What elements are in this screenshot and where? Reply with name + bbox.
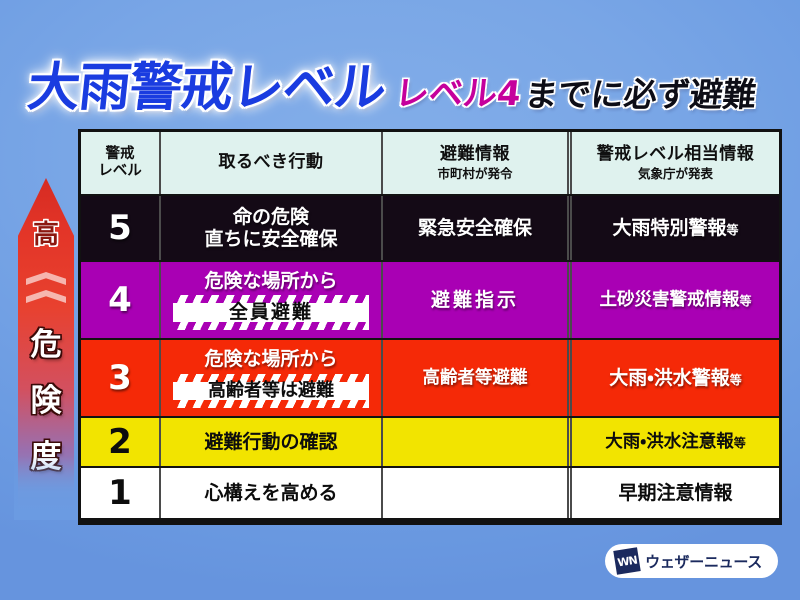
action-line-2: 直ちに安全確保 [204,228,337,250]
cell-action: 心構えを高める [159,468,381,518]
level-number: 5 [108,211,132,245]
action-line-1: 命の危険 [233,206,309,228]
header-level-line2: レベル [98,163,142,180]
action-highlight-box: 全員避難 [173,295,369,330]
equivalent-info-wrap: 大雨・洪水警報等 [609,367,741,389]
evacuation-info: 避難指示 [431,289,519,311]
cell-level-number: 2 [81,418,159,466]
level-number: 3 [108,361,132,395]
title-tail: までに必ず避難 [523,78,757,111]
cell-level-number: 4 [81,262,159,338]
action-highlight-text: 全員避難 [185,303,357,322]
header-cell-evacuation-info: 避難情報 市町村が発令 [381,132,567,194]
danger-scale-arrow: 高 危 険 度 [18,178,74,518]
equivalent-info: 土砂災害警戒情報 [599,290,739,310]
action-line-1: 危険な場所から [204,348,337,370]
cell-action: 命の危険 直ちに安全確保 [159,196,381,260]
danger-label-char-2: 険 [18,386,74,417]
evacuation-info: 緊急安全確保 [418,217,532,239]
equivalent-info-suffix: 等 [727,223,739,237]
brand-name: ウェザーニュース [645,551,762,572]
header-equiv-label: 警戒レベル相当情報 [597,145,755,164]
action-line-1: 避難行動の確認 [204,431,337,453]
warning-level-table: 警戒 レベル 取るべき行動 避難情報 市町村が発令 警戒レベル相当情報 気象庁が… [78,129,782,525]
cell-equivalent-info: 大雨特別警報等 [567,196,779,260]
cell-evacuation-info: 高齢者等避難 [381,340,567,416]
hazard-stripe-bottom [173,400,369,408]
cell-action: 危険な場所から 全員避難 [159,262,381,338]
danger-scale-top-label: 高 [18,222,74,248]
equivalent-info-suffix: 等 [734,436,746,450]
header-evac-label: 避難情報 [440,145,510,164]
header-level-line1: 警戒 [106,146,135,163]
page-title: 大雨警戒レベル [25,62,387,114]
cell-action: 避難行動の確認 [159,418,381,466]
action-highlight-box: 高齢者等は避難 [173,374,369,408]
cell-equivalent-info: 土砂災害警戒情報等 [567,262,779,338]
cell-evacuation-info: 避難指示 [381,262,567,338]
equivalent-info-wrap: 大雨特別警報等 [612,217,738,239]
header-cell-level: 警戒 レベル [81,132,159,194]
equivalent-info-wrap: 早期注意情報 [618,482,732,504]
level-number: 2 [108,425,132,459]
cell-level-number: 1 [81,468,159,518]
cell-equivalent-info: 大雨・洪水注意報等 [567,418,779,466]
table-header-row: 警戒 レベル 取るべき行動 避難情報 市町村が発令 警戒レベル相当情報 気象庁が… [81,132,779,194]
cell-level-number: 5 [81,196,159,260]
header-action-label: 取るべき行動 [219,153,324,172]
cell-evacuation-info: 緊急安全確保 [381,196,567,260]
hazard-stripe-bottom [173,322,369,330]
table-row: 4 危険な場所から 全員避難 避難指示 土砂災害警戒情報等 [81,260,779,338]
table-row: 2 避難行動の確認 大雨・洪水注意報等 [81,416,779,466]
table-row: 1 心構えを高める 早期注意情報 [81,466,779,518]
infographic-canvas: 大雨警戒レベル レベル4 までに必ず避難 高 危 険 度 警戒 レベル 取るべき… [0,0,800,600]
title-bar: 大雨警戒レベル レベル4 までに必ず避難 [0,44,800,114]
cell-equivalent-info: 大雨・洪水警報等 [567,340,779,416]
danger-label-char-1: 危 [18,330,74,361]
brand-logo: WN ウェザーニュース [605,544,778,578]
evacuation-info: 高齢者等避難 [423,368,528,389]
table-row: 5 命の危険 直ちに安全確保 緊急安全確保 大雨特別警報等 [81,194,779,260]
title-emphasis-level: レベル4 [393,77,522,111]
header-equiv-sublabel: 気象庁が発表 [638,166,713,181]
cell-level-number: 3 [81,340,159,416]
header-cell-action: 取るべき行動 [159,132,381,194]
cell-action: 危険な場所から 高齢者等は避難 [159,340,381,416]
action-line-1: 心構えを高める [204,482,337,504]
table-row: 3 危険な場所から 高齢者等は避難 高齢者等避難 大雨・洪水警報等 [81,338,779,416]
cell-evacuation-info [381,468,567,518]
equivalent-info-suffix: 等 [730,373,742,387]
cell-equivalent-info: 早期注意情報 [567,468,779,518]
level-number: 1 [108,476,132,510]
equivalent-info: 大雨・洪水警報 [609,367,729,389]
header-evac-sublabel: 市町村が発令 [437,166,512,181]
cell-evacuation-info [381,418,567,466]
header-cell-equivalent-info: 警戒レベル相当情報 気象庁が発表 [567,132,779,194]
level-number: 4 [108,283,132,317]
equivalent-info: 大雨特別警報 [612,217,726,239]
equivalent-info: 大雨・洪水注意報 [605,432,733,452]
arrow-bottom-fade [14,456,78,520]
action-line-1: 危険な場所から [204,270,337,292]
action-highlight-text: 高齢者等は避難 [185,382,357,400]
equivalent-info-suffix: 等 [739,294,751,308]
equivalent-info: 早期注意情報 [618,482,732,504]
weathernews-mark-icon: WN [613,547,640,574]
equivalent-info-wrap: 土砂災害警戒情報等 [599,290,751,311]
equivalent-info-wrap: 大雨・洪水注意報等 [605,432,745,453]
